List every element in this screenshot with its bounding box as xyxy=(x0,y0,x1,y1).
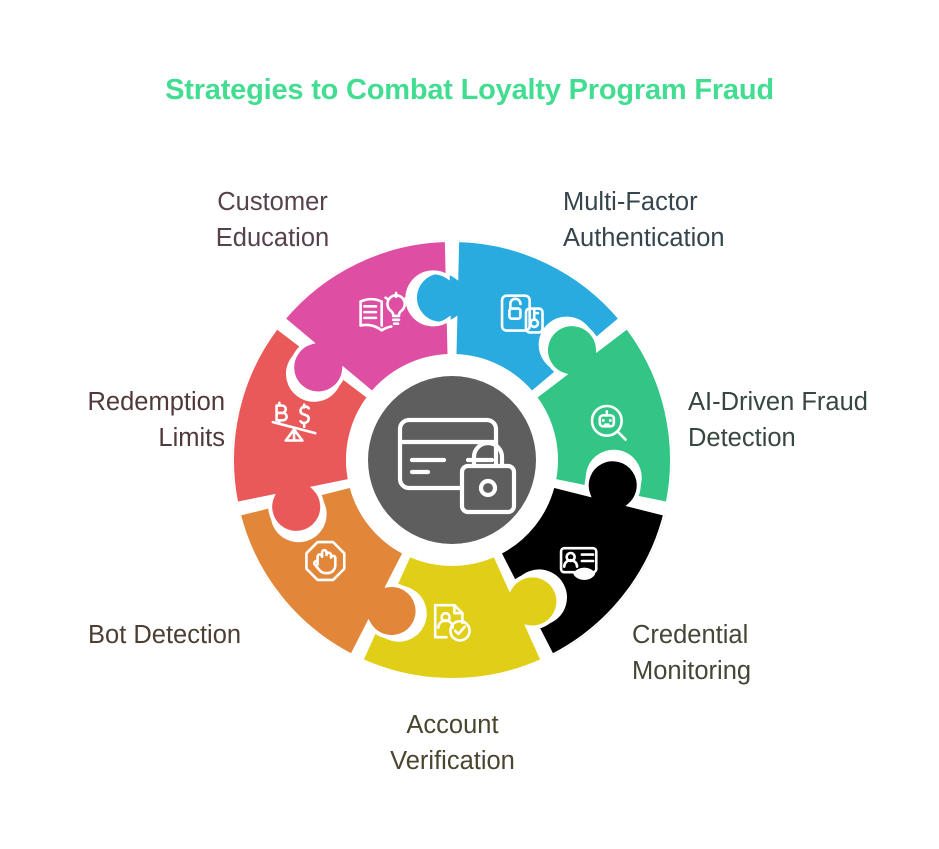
segment-label-bot-detection: Bot Detection xyxy=(88,617,241,653)
segment-label-ai-driven-fraud-detection: AI-Driven Fraud Detection xyxy=(688,384,868,456)
segment-label-customer-education: Customer Education xyxy=(150,184,395,256)
page-title: Strategies to Combat Loyalty Program Fra… xyxy=(0,74,939,107)
hub-circle xyxy=(368,376,536,544)
segment-label-credential-monitoring: Credential Monitoring xyxy=(632,617,751,689)
puzzle-wheel-diagram xyxy=(232,240,672,680)
segment-label-account-verification: Account Verification xyxy=(330,707,575,779)
segment-label-multi-factor-authentication: Multi-Factor Authentication xyxy=(563,184,725,256)
segment-label-redemption-limits: Redemption Limits xyxy=(10,384,225,456)
